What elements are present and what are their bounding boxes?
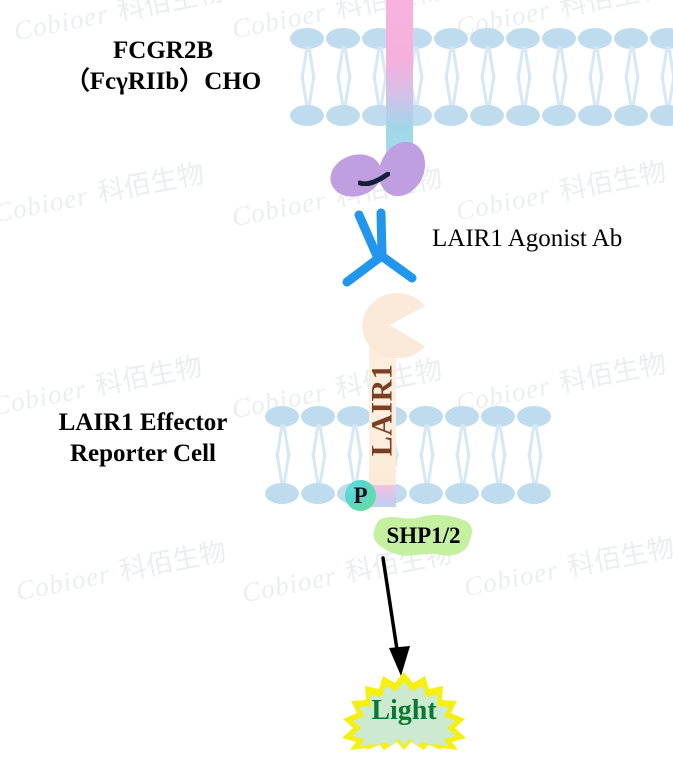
effector-cell-label-line1: LAIR1 Effector xyxy=(8,408,278,439)
lair1-ectodomain-icon xyxy=(355,292,425,358)
phosphorylation-badge: P xyxy=(345,480,376,511)
lipid-molecule xyxy=(470,74,504,126)
lipid-molecule xyxy=(517,452,551,504)
watermark: Cobioer科佰生物 xyxy=(460,525,673,604)
lipid-molecule xyxy=(301,406,335,458)
lipid-molecule xyxy=(445,406,479,458)
lipid-molecule xyxy=(542,74,576,126)
diagram-canvas: Cobioer科佰生物Cobioer科佰生物Cobioer科佰生物Cobioer… xyxy=(0,0,673,757)
lipid-molecule xyxy=(326,74,360,126)
watermark: Cobioer科佰生物 xyxy=(12,529,229,608)
watermark: Cobioer科佰生物 xyxy=(0,151,207,230)
lipid-molecule xyxy=(470,28,504,80)
fcgr2b-domain-linker xyxy=(358,172,390,186)
lipid-molecule xyxy=(506,28,540,80)
cho-cell-label: FCGR2B （FcγRIIb）CHO xyxy=(18,36,308,97)
signal-arrow-icon xyxy=(360,552,430,682)
lipid-molecule xyxy=(445,452,479,504)
lipid-molecule xyxy=(481,452,515,504)
lipid-molecule xyxy=(434,74,468,126)
lair1-receptor-label-text: LAIR1 xyxy=(365,364,399,457)
watermark: Cobioer科佰生物 xyxy=(452,149,669,228)
phospho-label: P xyxy=(353,484,367,507)
antibody-label: LAIR1 Agonist Ab xyxy=(432,224,622,255)
lipid-molecule xyxy=(614,74,648,126)
lair1-receptor-label: LAIR1 xyxy=(352,355,412,465)
lipid-molecule xyxy=(409,452,443,504)
lipid-molecule xyxy=(650,28,673,80)
lipid-molecule xyxy=(542,28,576,80)
effector-cell-label-line2: Reporter Cell xyxy=(8,439,278,470)
light-output-label: Light xyxy=(328,672,480,750)
effector-cell-label: LAIR1 Effector Reporter Cell xyxy=(8,408,278,469)
cho-cell-label-line2: （FcγRIIb）CHO xyxy=(18,67,308,98)
cho-cell-label-line1: FCGR2B xyxy=(18,36,308,67)
lipid-molecule xyxy=(517,406,551,458)
lipid-molecule xyxy=(301,452,335,504)
shp-phosphatase-label: SHP1/2 xyxy=(371,513,476,558)
lipid-molecule xyxy=(434,28,468,80)
lair1-agonist-antibody-icon xyxy=(336,208,422,290)
lipid-molecule xyxy=(481,406,515,458)
lipid-molecule xyxy=(578,74,612,126)
lipid-molecule xyxy=(506,74,540,126)
lipid-molecule xyxy=(409,406,443,458)
lipid-molecule xyxy=(650,74,673,126)
lipid-molecule xyxy=(326,28,360,80)
cho-cell-membrane xyxy=(290,28,673,126)
lipid-molecule xyxy=(614,28,648,80)
lipid-molecule xyxy=(578,28,612,80)
